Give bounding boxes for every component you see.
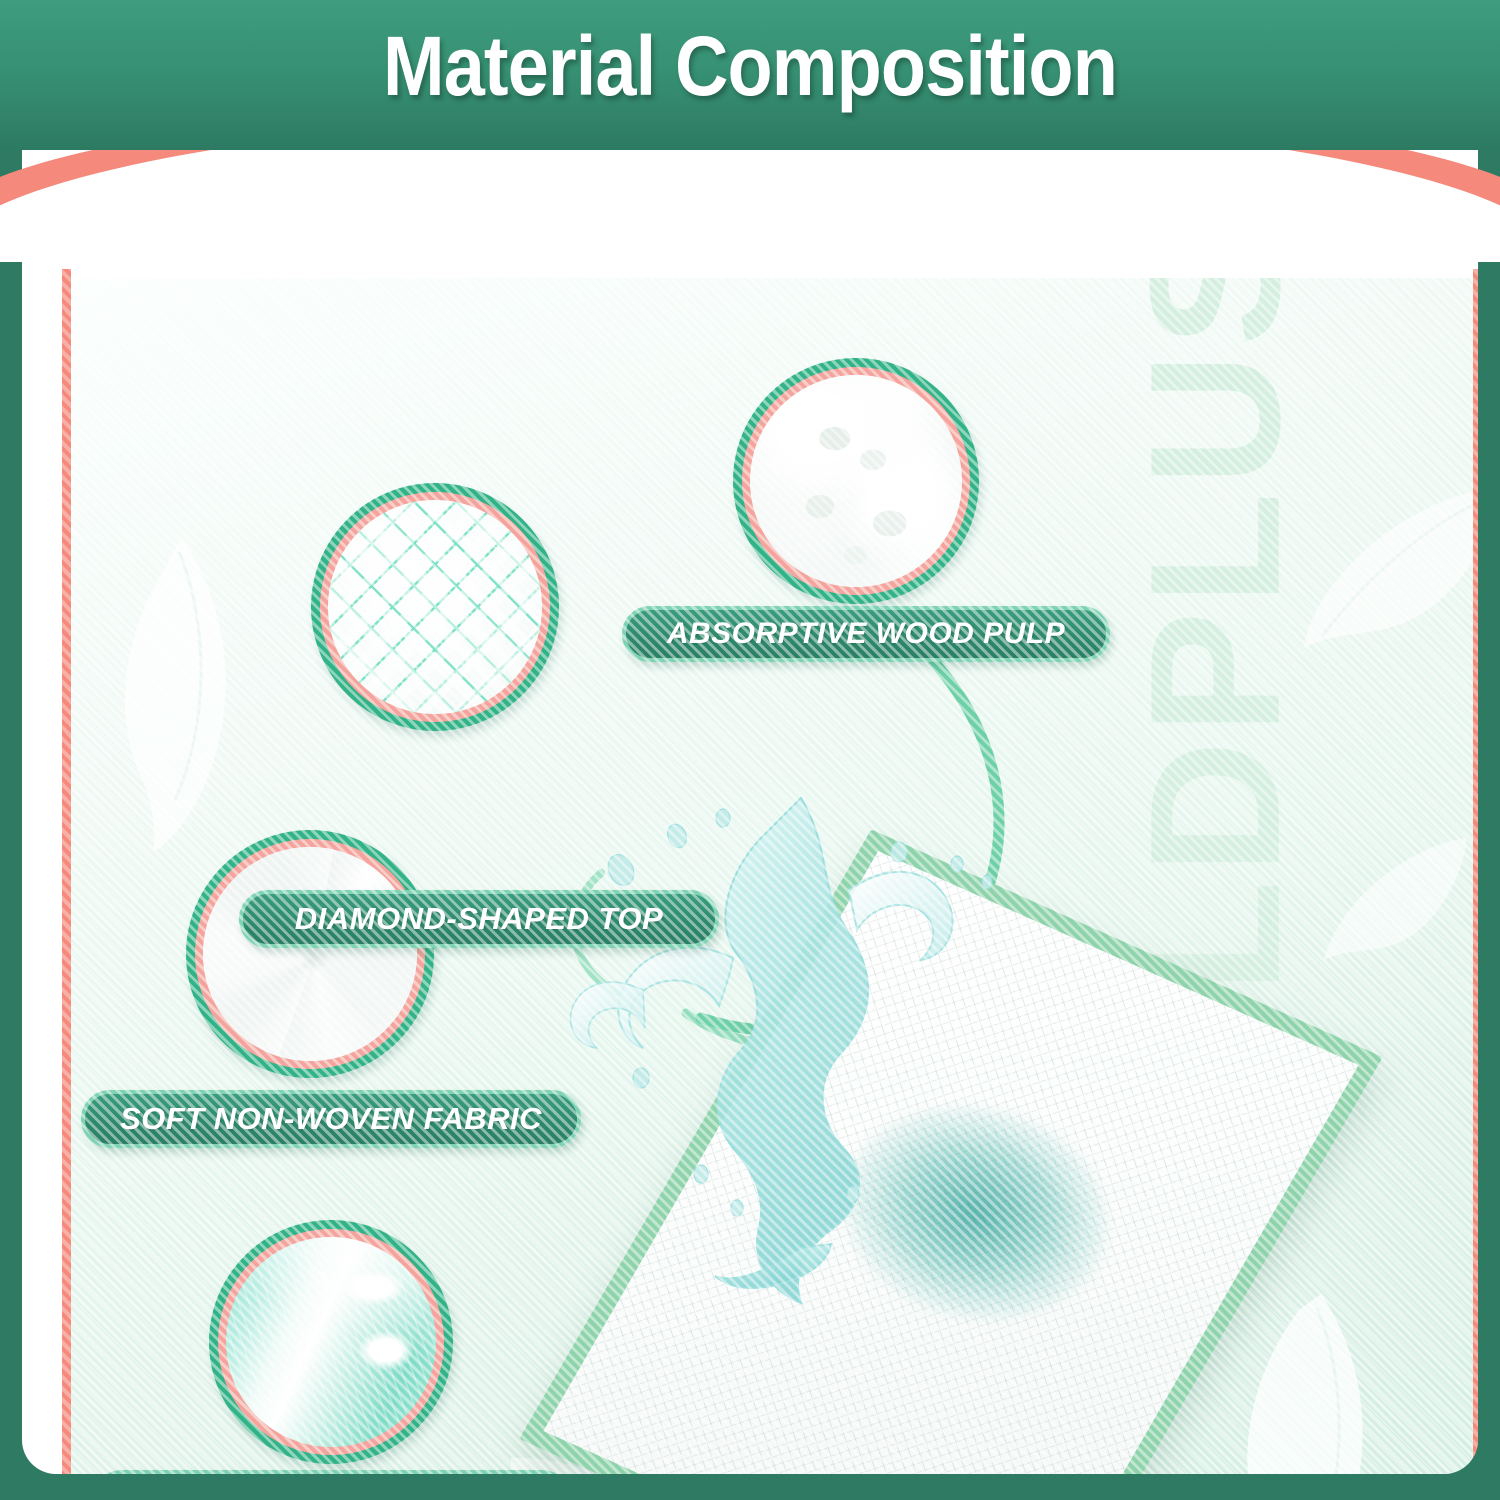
swatch-waterproof-pe-film[interactable] bbox=[209, 1220, 453, 1464]
swatch-soft-non-woven-fabric[interactable] bbox=[186, 830, 434, 1078]
label-diamond-shaped-top[interactable]: DIAMOND-SHAPED TOP bbox=[239, 890, 719, 948]
swatch-pink-ring bbox=[742, 367, 970, 595]
feather-icon bbox=[1296, 458, 1473, 688]
label-soft-non-woven-fabric[interactable]: SOFT NON-WOVEN FABRIC bbox=[81, 1090, 581, 1148]
page-title: Material Composition bbox=[90, 22, 1410, 110]
label-waterproof-pe-film[interactable]: WATERPROOF PE FILM bbox=[93, 1470, 571, 1474]
swatch-image-pulp bbox=[750, 375, 962, 587]
absorbent-pad bbox=[671, 898, 1231, 1474]
swatch-image-pefilm bbox=[226, 1237, 436, 1447]
swatch-absorptive-wood-pulp[interactable] bbox=[733, 358, 979, 604]
pe-film-texture-icon bbox=[226, 1237, 436, 1447]
absorption-spot-icon bbox=[804, 1069, 1147, 1358]
content-card: MILDPLUS bbox=[22, 128, 1478, 1474]
feather-icon bbox=[1316, 818, 1473, 968]
label-text: DIAMOND-SHAPED TOP bbox=[295, 901, 663, 937]
infographic-stage: MILDPLUS bbox=[71, 278, 1473, 1474]
label-text: SOFT NON-WOVEN FABRIC bbox=[120, 1101, 542, 1137]
wood-pulp-fluff-texture-icon bbox=[750, 375, 962, 587]
label-absorptive-wood-pulp[interactable]: ABSORPTIVE WOOD PULP bbox=[622, 606, 1110, 662]
label-text: ABSORPTIVE WOOD PULP bbox=[667, 617, 1065, 651]
non-woven-fabric-swirl-texture-icon bbox=[203, 847, 417, 1061]
swatch-image-diamond bbox=[328, 500, 542, 714]
feather-icon bbox=[91, 528, 261, 858]
swatch-pink-ring bbox=[218, 1229, 444, 1455]
header-banner: Material Composition bbox=[0, 0, 1500, 150]
swatch-pink-ring bbox=[195, 839, 425, 1069]
swatch-diamond-shaped-top[interactable] bbox=[311, 483, 559, 731]
swatch-pink-ring bbox=[320, 492, 550, 722]
swatch-image-nonwoven bbox=[203, 847, 417, 1061]
diamond-quilt-texture-icon bbox=[328, 500, 542, 714]
